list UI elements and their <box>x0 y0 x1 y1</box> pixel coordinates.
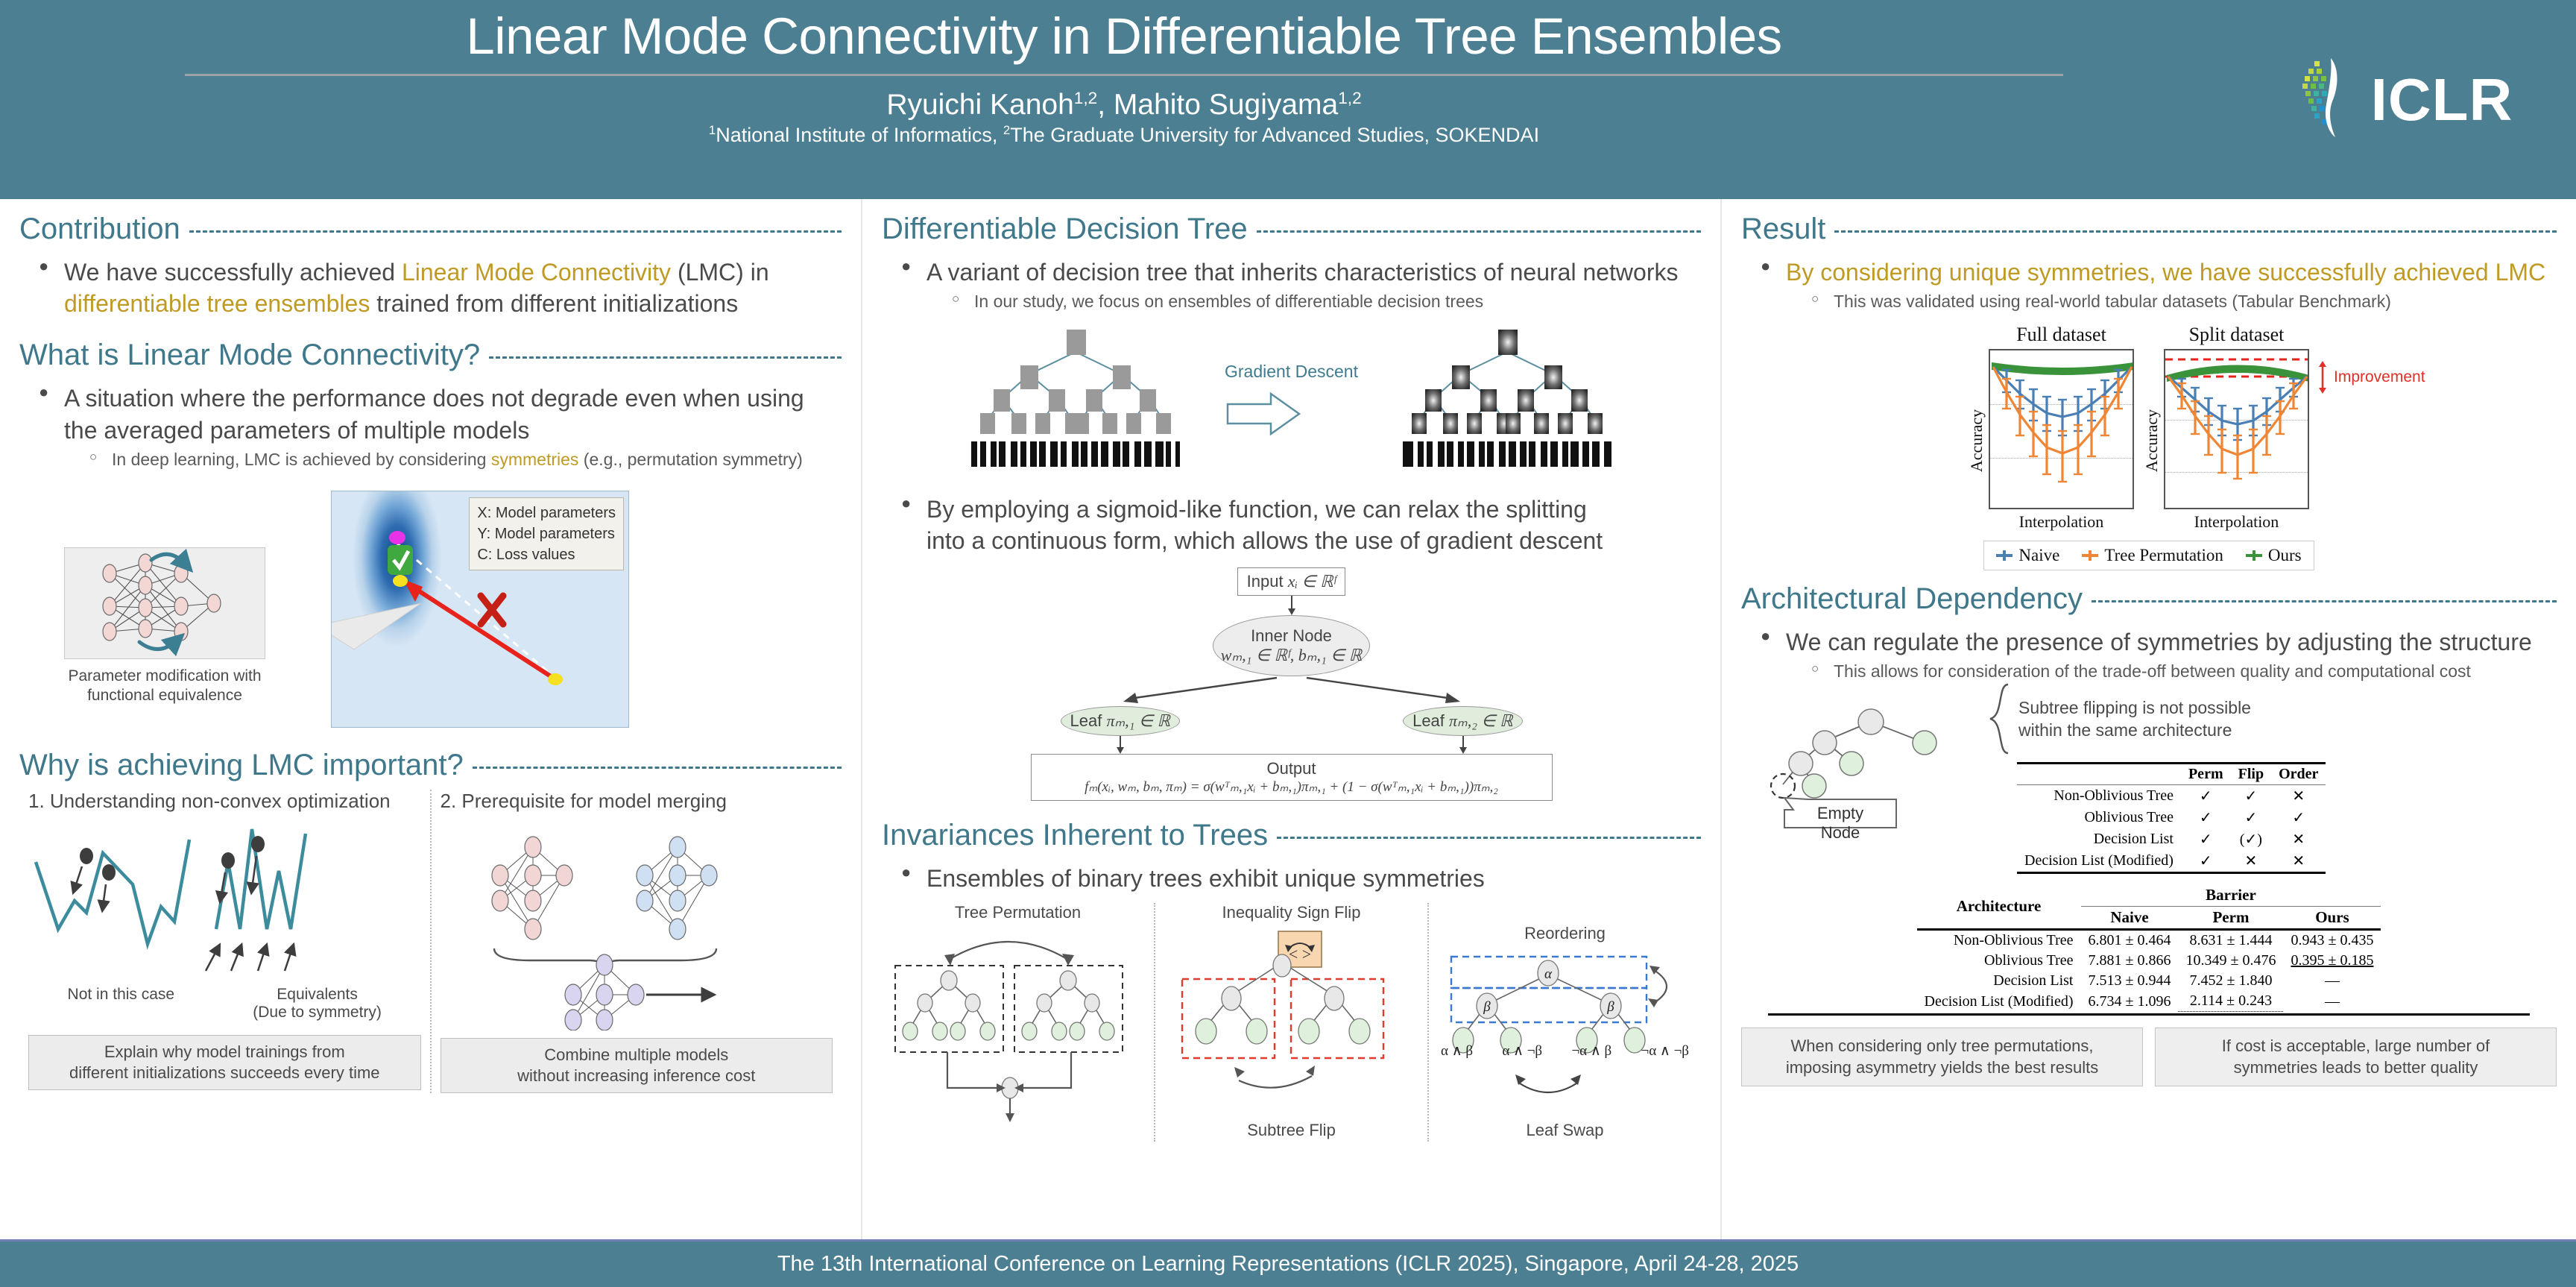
panel-title-reordering: Reordering <box>1436 924 1693 943</box>
leaf-label-3: ¬α ∧ ¬β <box>1641 1042 1689 1060</box>
table-row: Decision List (Modified) 6.734 ± 1.096 2… <box>1917 991 2381 1012</box>
affil-marker-1: 1 <box>709 123 716 137</box>
neural-network-icon <box>65 548 265 658</box>
col-header-ours: Ours <box>2283 907 2381 930</box>
list-item: This allows for consideration of the tra… <box>1808 661 2557 683</box>
ddt-sub-bullets: In our study, we focus on ensembles of d… <box>949 291 1701 313</box>
arch-tables-block: Subtree flipping is not possible within … <box>1987 686 2557 874</box>
callout-tree-permutations: When considering only tree permutations,… <box>1741 1028 2143 1086</box>
col-header-barrier-group: Barrier <box>2081 884 2381 907</box>
heading-dash-rule <box>2092 600 2557 602</box>
nn-diagram-caption: Parameter modification with functional e… <box>49 667 280 706</box>
heading-dash-rule <box>189 230 842 233</box>
svg-text:< >: < > <box>1289 945 1311 963</box>
callout-cost-quality: If cost is acceptable, large number of s… <box>2155 1028 2557 1086</box>
label-due-to-symmetry: (Due to symmetry) <box>253 1004 382 1022</box>
symmetry-support-table: Perm Flip Order Non-Oblivious Tree ✓ ✓ ✕ <box>2017 762 2326 874</box>
cell-naive: 7.513 ± 0.944 <box>2081 971 2179 991</box>
author-1: Ryuichi Kanoh <box>886 89 1073 121</box>
callout-left-line-2: imposing asymmetry yields the best resul… <box>1786 1058 2098 1077</box>
result-bullet-text: By considering unique symmetries, we hav… <box>1786 259 2545 286</box>
callout-right-line-2: symmetries leads to better quality <box>2234 1058 2478 1077</box>
section-title-what-is-lmc: What is Linear Mode Connectivity? <box>19 339 480 372</box>
list-item: We have successfully achieved Linear Mod… <box>36 257 842 319</box>
ball-2 <box>102 864 116 881</box>
legend-label-ours: Ours <box>2268 546 2302 565</box>
cell-perm: ✓ <box>2181 850 2231 873</box>
table-row: Oblivious Tree 7.881 ± 0.866 10.349 ± 0.… <box>1917 951 2381 971</box>
label-equivalents: Equivalents <box>253 986 382 1004</box>
legend-label-naive: Naive <box>2018 546 2059 565</box>
leaf-label-2: ¬α ∧ β <box>1571 1042 1611 1060</box>
callout-1-line-2: different initializations succeeds every… <box>69 1063 380 1082</box>
cell-naive: 7.881 ± 0.866 <box>2081 951 2179 971</box>
gradient-descent-figure: Gradient Descent <box>882 325 1701 474</box>
panel-2-title: 2. Prerequisite for model merging <box>441 790 833 813</box>
panel-1-title: 1. Understanding non-convex optimization <box>28 790 421 813</box>
model-b-nodes <box>637 837 717 940</box>
author-2: , Mahito Sugiyama <box>1097 89 1338 121</box>
invariance-panels: Tree Permutation <box>882 903 1701 1142</box>
cell-architecture: Decision List (Modified) <box>2017 850 2181 873</box>
affil-2: The Graduate University for Advanced Stu… <box>1010 124 1539 146</box>
cell-architecture: Decision List (Modified) <box>1917 991 2081 1012</box>
model-merging-diagram <box>441 817 828 1030</box>
cell-architecture: Decision List <box>2017 828 2181 850</box>
section-title-contribution: Contribution <box>19 213 180 246</box>
arch-figure-row: Empty Node Subtree flipping is not possi… <box>1741 686 2557 874</box>
author-2-affil-marker: 1,2 <box>1338 89 1361 107</box>
cell-architecture: Decision List <box>1917 971 2081 991</box>
panel-nonconvex: 1. Understanding non-convex optimization <box>19 790 432 1093</box>
yellow-point-left <box>393 575 408 587</box>
brace-note-text: Subtree flipping is not possible within … <box>2018 696 2251 742</box>
iclr-mark-icon <box>2294 55 2365 145</box>
heading-dash-rule <box>489 356 842 359</box>
cell-perm: ✓ <box>2181 785 2231 808</box>
gradient-descent-arrow-block: Gradient Descent <box>1225 362 1358 438</box>
section-heading-what-is-lmc: What is Linear Mode Connectivity? <box>19 339 842 372</box>
callout-1-line-1: Explain why model trainings from <box>104 1042 345 1061</box>
unbalanced-tree-figure: Empty Node <box>1741 686 1987 874</box>
contribution-gold-1: Linear Mode Connectivity <box>402 259 671 286</box>
legend-marker-naive <box>1996 550 2012 561</box>
legend-x: X: Model parameters <box>477 503 616 523</box>
callout-pointer <box>332 603 421 649</box>
trained-tree-icon <box>1380 325 1634 474</box>
callout-right-line-1: If cost is acceptable, large number of <box>2222 1036 2490 1055</box>
loss-curve-diagram <box>28 817 401 989</box>
heading-dash-rule <box>1834 230 2557 233</box>
table-row: Decision List (Modified) ✓ ✕ ✕ <box>2017 850 2326 873</box>
improvement-arrow-icon <box>2313 361 2332 394</box>
affiliations: 1National Institute of Informatics, 2The… <box>0 124 2248 147</box>
svg-text:β: β <box>1483 999 1491 1015</box>
panel-tree-permutation: Tree Permutation <box>882 903 1154 1142</box>
ball-1 <box>80 848 93 864</box>
lmc-bullets: A situation where the performance does n… <box>36 383 842 471</box>
neural-net-diagram <box>64 547 265 659</box>
leaf-label-1: α ∧ ¬β <box>1502 1042 1542 1060</box>
input-box: Input xᵢ ∈ ℝᶠ <box>1237 567 1346 596</box>
panel-title-sign-flip: Inequality Sign Flip <box>1163 903 1420 922</box>
cell-order: ✕ <box>2271 828 2326 850</box>
chart-plot-area-split: 90 80 70 <box>2164 349 2309 509</box>
cell-perm: 8.631 ± 1.444 <box>2178 930 2283 951</box>
input-label: Input <box>1247 572 1284 591</box>
list-item: Ensembles of binary trees exhibit unique… <box>898 863 1701 894</box>
output-label: Output <box>1038 759 1546 778</box>
leaf-node-left: Leaf πₘ,₁ ∈ ℝ <box>1061 706 1180 736</box>
leaf-node-right: Leaf πₘ,₂ ∈ ℝ <box>1403 706 1522 736</box>
lmc-sub-post: (e.g., permutation symmetry) <box>578 450 802 469</box>
cell-perm: 2.114 ± 0.243 <box>2178 991 2283 1012</box>
nn-caption-line-2: functional equivalence <box>87 687 242 704</box>
nn-caption-line-1: Parameter modification with <box>68 667 261 685</box>
lmc-sub-pre: In deep learning, LMC is achieved by con… <box>112 450 491 469</box>
chart-legend: Naive Tree Permutation Ours <box>1983 541 2314 570</box>
arrow-down-icon-2 <box>1113 736 1128 754</box>
inner-node-ellipse: Inner Node wₘ,₁ ∈ ℝᶠ, bₘ,₁ ∈ ℝ <box>1213 615 1370 676</box>
ddt-bullets: A variant of decision tree that inherits… <box>898 257 1701 313</box>
callout-explain-trainings: Explain why model trainings from differe… <box>28 1035 421 1090</box>
column-left: Contribution We have successfully achiev… <box>0 199 861 1239</box>
table-row: Non-Oblivious Tree ✓ ✓ ✕ <box>2017 785 2326 808</box>
callout-2-line-2: without increasing inference cost <box>517 1066 755 1085</box>
leaf-left-label: Leaf <box>1070 711 1102 730</box>
check-badge <box>388 545 413 575</box>
title-divider <box>185 74 2063 76</box>
ddt-definition: A variant of decision tree that inherits… <box>926 259 1678 286</box>
author-1-affil-marker: 1,2 <box>1074 89 1097 107</box>
landscape-legend: X: Model parameters Y: Model parameters … <box>469 497 624 570</box>
panel-model-merging: 2. Prerequisite for model merging <box>432 790 842 1093</box>
legend-c: C: Loss values <box>477 544 616 565</box>
col-header-architecture: Architecture <box>1917 884 2081 930</box>
branch-arrows <box>1031 676 1553 706</box>
arrow-down-icon-1 <box>1283 596 1301 615</box>
contribution-post: trained from different initializations <box>370 290 738 317</box>
section-heading-ddt: Differentiable Decision Tree <box>882 213 1701 246</box>
tree-permutation-diagram <box>889 927 1135 1124</box>
table-row: Non-Oblivious Tree 6.801 ± 0.464 8.631 ±… <box>1917 930 2381 951</box>
col-header-blank <box>2017 764 2181 785</box>
author-list: Ryuichi Kanoh1,2, Mahito Sugiyama1,2 <box>0 89 2248 121</box>
subtree-flip-diagram: < > <box>1163 927 1409 1102</box>
list-item: This was validated using real-world tabu… <box>1808 291 2557 313</box>
leaf-label-0: α ∧ β <box>1441 1042 1473 1060</box>
sigmoid-line-2: into a continuous form, which allows the… <box>926 527 1603 554</box>
chart-ylabel-full: Accuracy <box>1967 409 1986 471</box>
cell-order: ✓ <box>2271 807 2326 828</box>
arch-bullets: We can regulate the presence of symmetri… <box>1758 626 2557 683</box>
section-heading-arch-dependency: Architectural Dependency <box>1741 582 2557 616</box>
tree-formula-diagram: Input xᵢ ∈ ℝᶠ Inner Node wₘ,₁ ∈ ℝᶠ, bₘ,₁… <box>1031 567 1553 801</box>
list-item: By employing a sigmoid-like function, we… <box>898 494 1701 556</box>
cell-ours: — <box>2283 991 2381 1012</box>
gradient-descent-label: Gradient Descent <box>1225 362 1358 382</box>
swap-arc <box>949 942 1068 960</box>
cell-perm: 10.349 ± 0.476 <box>2178 951 2283 971</box>
cell-order: ✕ <box>2271 785 2326 808</box>
col-header-perm: Perm <box>2178 907 2283 930</box>
list-item: In our study, we focus on ensembles of d… <box>949 291 1701 313</box>
poster-header: Linear Mode Connectivity in Differentiab… <box>0 0 2576 199</box>
result-sub-bullets: This was validated using real-world tabu… <box>1808 291 2557 313</box>
contribution-mid: (LMC) in <box>671 259 769 286</box>
legend-item-ours: Ours <box>2246 546 2302 565</box>
list-item: By considering unique symmetries, we hav… <box>1758 257 2557 313</box>
cell-naive: 6.801 ± 0.464 <box>2081 930 2179 951</box>
cell-ours: 0.395 ± 0.185 <box>2283 951 2381 971</box>
model-a-nodes <box>492 837 572 940</box>
cell-architecture: Non-Oblivious Tree <box>1917 930 2081 951</box>
heading-dash-rule <box>1257 230 1701 233</box>
cell-architecture: Non-Oblivious Tree <box>2017 785 2181 808</box>
cell-architecture: Oblivious Tree <box>2017 807 2181 828</box>
cell-ours: — <box>2283 971 2381 991</box>
column-right: Result By considering unique symmetries,… <box>1722 199 2576 1239</box>
ball-4 <box>251 836 265 852</box>
list-item: A situation where the performance does n… <box>36 383 842 471</box>
heading-dash-rule <box>1277 837 1701 839</box>
arrow-down-icon-3 <box>1456 736 1471 754</box>
ddt-bullets-2: By employing a sigmoid-like function, we… <box>898 494 1701 556</box>
brace-note-row: Subtree flipping is not possible within … <box>1987 683 2557 755</box>
why-important-panels: 1. Understanding non-convex optimization <box>19 790 842 1093</box>
cell-perm: ✓ <box>2181 828 2231 850</box>
empty-node-callout: Empty Node <box>1784 799 1896 847</box>
section-title-ddt: Differentiable Decision Tree <box>882 213 1248 246</box>
lmc-sub-gold: symmetries <box>491 450 579 469</box>
table-row: Decision List 7.513 ± 0.944 7.452 ± 1.84… <box>1917 971 2381 991</box>
legend-item-tree-permutation: Tree Permutation <box>2082 546 2223 565</box>
col-header-flip: Flip <box>2231 764 2271 785</box>
poster-footer: The 13th International Conference on Lea… <box>0 1239 2576 1287</box>
input-math: xᵢ ∈ ℝᶠ <box>1288 572 1336 591</box>
col-header-perm: Perm <box>2181 764 2231 785</box>
cell-flip: ✓ <box>2231 807 2271 828</box>
inner-node-label: Inner Node <box>1221 626 1362 646</box>
cell-naive: 6.734 ± 1.096 <box>2081 991 2179 1012</box>
merged-model-nodes <box>565 954 644 1030</box>
section-heading-why-important: Why is achieving LMC important? <box>19 749 842 782</box>
section-title-why-important: Why is achieving LMC important? <box>19 749 464 782</box>
leaf-right-math: πₘ,₂ ∈ ℝ <box>1449 711 1512 730</box>
result-charts: Full dataset Accuracy <box>1741 324 2557 532</box>
col-header-naive: Naive <box>2081 907 2179 930</box>
cell-flip: (✓) <box>2231 828 2271 850</box>
list-item: We can regulate the presence of symmetri… <box>1758 626 2557 683</box>
chart-full-dataset: Full dataset Accuracy <box>1989 324 2134 532</box>
panel-foot-leaf-swap: Leaf Swap <box>1429 1121 1701 1140</box>
list-item: In deep learning, LMC is achieved by con… <box>86 449 842 471</box>
improvement-label: Improvement <box>2334 368 2425 386</box>
invariances-bullets: Ensembles of binary trees exhibit unique… <box>898 863 1701 894</box>
footer-text: The 13th International Conference on Lea… <box>777 1252 1799 1277</box>
panel-title-tree-permutation: Tree Permutation <box>889 903 1146 922</box>
output-math: fₘ(xᵢ, wₘ, bₘ, πₘ) = σ(wᵀₘ,₁xᵢ + bₘ,₁)πₘ… <box>1038 778 1546 796</box>
callout-combine-models: Combine multiple models without increasi… <box>441 1038 833 1093</box>
svg-text:β: β <box>1606 999 1614 1015</box>
section-title-invariances: Invariances Inherent to Trees <box>882 819 1268 852</box>
loss-landscape-figure: Parameter modification with functional e… <box>19 483 842 729</box>
panel-reordering: Reordering α β β <box>1427 903 1701 1142</box>
legend-label-tree-permutation: Tree Permutation <box>2104 546 2223 565</box>
panel-inequality-sign-flip: Inequality Sign Flip < > <box>1154 903 1427 1142</box>
empty-node-circle <box>1771 774 1795 798</box>
lmc-sub-bullets: In deep learning, LMC is achieved by con… <box>86 449 842 471</box>
affil-1: National Institute of Informatics, <box>716 124 1003 146</box>
poster-body: Contribution We have successfully achiev… <box>0 199 2576 1239</box>
chart-split-dataset: Split dataset Accuracy <box>2164 324 2309 532</box>
arch-bullet-text: We can regulate the presence of symmetri… <box>1786 629 2532 655</box>
yellow-point-right <box>548 673 563 685</box>
contribution-bullets: We have successfully achieved Linear Mod… <box>36 257 842 319</box>
chart-ylabel-split: Accuracy <box>2142 409 2162 471</box>
legend-item-naive: Naive <box>1996 546 2059 565</box>
cell-perm: ✓ <box>2181 807 2231 828</box>
label-not-in-this-case: Not in this case <box>68 986 175 1022</box>
iclr-logo: ICLR <box>2248 0 2576 199</box>
legend-y: Y: Model parameters <box>477 523 616 544</box>
column-middle: Differentiable Decision Tree A variant o… <box>861 199 1722 1239</box>
chart-plot-area-full: 80 60 <box>1989 349 2134 509</box>
heading-dash-rule <box>473 767 842 769</box>
leaf-right-label: Leaf <box>1412 711 1445 730</box>
section-title-arch-dependency: Architectural Dependency <box>1741 582 2083 616</box>
brace-note-line-2: within the same architecture <box>2018 719 2251 741</box>
leaf-left-math: πₘ,₁ ∈ ℝ <box>1106 711 1169 730</box>
svg-text:α: α <box>1544 966 1553 982</box>
cell-flip: ✕ <box>2231 850 2271 873</box>
output-box: Output fₘ(xᵢ, wₘ, bₘ, πₘ) = σ(wᵀₘ,₁xᵢ + … <box>1031 754 1553 801</box>
page-title: Linear Mode Connectivity in Differentiab… <box>0 10 2248 62</box>
cell-ours: 0.943 ± 0.435 <box>2283 930 2381 951</box>
loss-contour-plot: X: Model parameters Y: Model parameters … <box>331 491 629 728</box>
callout-2-line-1: Combine multiple models <box>544 1045 728 1064</box>
sigmoid-line-1: By employing a sigmoid-like function, we… <box>926 496 1587 523</box>
random-init-tree-icon <box>949 325 1202 474</box>
iclr-logo-text: ICLR <box>2371 66 2513 134</box>
chart-title-full: Full dataset <box>1989 324 2134 346</box>
table-row: Decision List ✓ (✓) ✕ <box>2017 828 2326 850</box>
col-header-order: Order <box>2271 764 2326 785</box>
cross-icon <box>481 596 503 624</box>
section-heading-result: Result <box>1741 213 2557 246</box>
arch-sub-bullets: This allows for consideration of the tra… <box>1808 661 2557 683</box>
ball-3 <box>221 852 235 869</box>
contribution-pre: We have successfully achieved <box>64 259 402 286</box>
arch-callouts: When considering only tree permutations,… <box>1741 1028 2557 1086</box>
chart-title-split: Split dataset <box>2164 324 2309 346</box>
brace-note-line-1: Subtree flipping is not possible <box>2018 696 2251 719</box>
affil-marker-2: 2 <box>1003 123 1010 137</box>
inner-node-math: wₘ,₁ ∈ ℝᶠ, bₘ,₁ ∈ ℝ <box>1221 646 1362 665</box>
lmc-definition: A situation where the performance does n… <box>64 385 804 443</box>
table-row: Oblivious Tree ✓ ✓ ✓ <box>2017 807 2326 828</box>
cell-perm: 7.452 ± 1.840 <box>2178 971 2283 991</box>
curly-brace-icon <box>1987 683 2012 755</box>
chart-xlabel-full: Interpolation <box>1989 512 2134 532</box>
cell-architecture: Oblivious Tree <box>1917 951 2081 971</box>
list-item: A variant of decision tree that inherits… <box>898 257 1701 313</box>
section-title-result: Result <box>1741 213 1825 246</box>
magenta-point <box>389 531 405 544</box>
header-main: Linear Mode Connectivity in Differentiab… <box>0 0 2248 147</box>
callout-left-line-1: When considering only tree permutations, <box>1791 1036 2094 1055</box>
panel-foot-subtree-flip: Subtree Flip <box>1155 1121 1427 1140</box>
result-bullets: By considering unique symmetries, we hav… <box>1758 257 2557 313</box>
loss-curve-left <box>36 840 189 944</box>
barrier-table: Architecture Barrier Naive Perm Ours Non… <box>1917 884 2381 1012</box>
cell-flip: ✓ <box>2231 785 2271 808</box>
contribution-gold-2: differentiable tree ensembles <box>64 290 370 317</box>
section-heading-invariances: Invariances Inherent to Trees <box>882 819 1701 852</box>
section-heading-contribution: Contribution <box>19 213 842 246</box>
legend-marker-ours <box>2246 550 2262 561</box>
arrow-right-icon <box>1225 389 1302 438</box>
barrier-table-bottom-rule <box>1768 1013 2530 1016</box>
chart-xlabel-split: Interpolation <box>2164 512 2309 532</box>
cell-order: ✕ <box>2271 850 2326 873</box>
legend-marker-tree-permutation <box>2082 550 2098 561</box>
reordering-diagram: α β β <box>1436 948 1690 1108</box>
